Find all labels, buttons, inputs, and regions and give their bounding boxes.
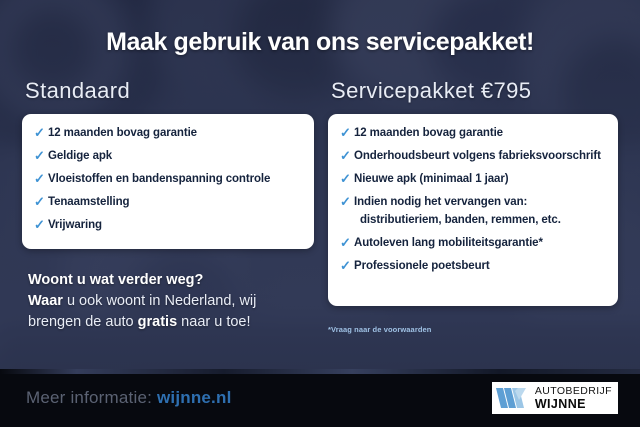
package-standard-title: Standaard — [25, 78, 314, 104]
list-item-label: Indien nodig het vervangen van: — [354, 195, 527, 209]
list-item-label: 12 maanden bovag garantie — [48, 126, 197, 140]
list-item: ✓ Tenaamstelling — [34, 195, 300, 209]
list-item: ✓ 12 maanden bovag garantie — [34, 126, 300, 140]
check-icon: ✓ — [34, 218, 48, 232]
list-item: ✓ Nieuwe apk (minimaal 1 jaar) — [340, 172, 604, 186]
package-standard-card: ✓ 12 maanden bovag garantie ✓ Geldige ap… — [22, 114, 314, 249]
footer-bar: Meer informatie: wijnne.nl AUTOBEDRIJF W… — [0, 369, 640, 427]
check-icon: ✓ — [34, 149, 48, 163]
list-item: ✓ Autoleven lang mobiliteitsgarantie* — [340, 236, 604, 250]
list-item: ✓ Vrijwaring — [34, 218, 300, 232]
website-link[interactable]: wijnne.nl — [157, 388, 232, 407]
brand-logo[interactable]: AUTOBEDRIJF WIJNNE — [492, 382, 618, 414]
promo-line-1: Woont u wat verder weg? — [28, 270, 328, 291]
promo-line-2-bold: Waar — [28, 293, 63, 309]
check-icon: ✓ — [34, 126, 48, 140]
list-item-continuation: ✓ distributieriem, banden, remmen, etc. — [340, 213, 604, 227]
terms-footnote: *Vraag naar de voorwaarden — [328, 325, 431, 334]
list-item-label: Onderhoudsbeurt volgens fabrieksvoorschr… — [354, 149, 601, 163]
list-item-label: Vrijwaring — [48, 218, 102, 232]
list-item: ✓ 12 maanden bovag garantie — [340, 126, 604, 140]
check-icon: ✓ — [340, 259, 354, 273]
list-item-label: distributieriem, banden, remmen, etc. — [360, 213, 561, 227]
list-item-label: Tenaamstelling — [48, 195, 129, 209]
promo-line-3: brengen de auto gratis naar u toe! — [28, 312, 328, 333]
logo-bottom-word: WIJNNE — [535, 398, 612, 411]
package-service-title: Servicepakket €795 — [331, 78, 618, 104]
check-icon: ✓ — [34, 195, 48, 209]
check-icon: ✓ — [340, 172, 354, 186]
more-info: Meer informatie: wijnne.nl — [26, 388, 232, 408]
promo-banner: Maak gebruik van ons servicepakket! Stan… — [0, 0, 640, 427]
logo-top-word: AUTOBEDRIJF — [535, 386, 612, 397]
promo-line-3-pre: brengen de auto — [28, 314, 138, 330]
promo-line-3-bold: gratis — [138, 314, 178, 330]
list-item: ✓ Onderhoudsbeurt volgens fabrieksvoorsc… — [340, 149, 604, 163]
footer-sheen — [0, 369, 640, 374]
list-item: ✓ Vloeistoffen en bandenspanning control… — [34, 172, 300, 186]
check-icon: ✓ — [340, 236, 354, 250]
list-item-label: Nieuwe apk (minimaal 1 jaar) — [354, 172, 508, 186]
logo-wordmark: AUTOBEDRIJF WIJNNE — [535, 386, 612, 410]
list-item-label: Autoleven lang mobiliteitsgarantie* — [354, 236, 543, 250]
promo-line-2: Waar u ook woont in Nederland, wij — [28, 291, 328, 312]
more-info-label: Meer informatie: — [26, 388, 152, 407]
promo-line-3-post: naar u toe! — [177, 314, 250, 330]
check-icon: ✓ — [34, 172, 48, 186]
list-item: ✓ Geldige apk — [34, 149, 300, 163]
promo-line-2-rest: u ook woont in Nederland, wij — [63, 293, 256, 309]
list-item: ✓ Indien nodig het vervangen van: — [340, 195, 604, 209]
package-service: Servicepakket €795 ✓ 12 maanden bovag ga… — [328, 78, 618, 306]
delivery-promo: Woont u wat verder weg? Waar u ook woont… — [28, 270, 328, 333]
check-icon: ✓ — [340, 126, 354, 140]
list-item-label: Professionele poetsbeurt — [354, 259, 490, 273]
check-icon: ✓ — [340, 149, 354, 163]
check-icon: ✓ — [340, 195, 354, 209]
list-item-label: Geldige apk — [48, 149, 112, 163]
list-item-label: Vloeistoffen en bandenspanning controle — [48, 172, 270, 186]
list-item-label: 12 maanden bovag garantie — [354, 126, 503, 140]
page-title: Maak gebruik van ons servicepakket! — [0, 28, 640, 57]
package-service-card: ✓ 12 maanden bovag garantie ✓ Onderhouds… — [328, 114, 618, 306]
list-item: ✓ Professionele poetsbeurt — [340, 259, 604, 273]
package-standard: Standaard ✓ 12 maanden bovag garantie ✓ … — [22, 78, 314, 249]
wijnne-w-logo-icon — [496, 386, 530, 410]
promo-line-1-text: Woont u wat verder weg? — [28, 272, 203, 288]
